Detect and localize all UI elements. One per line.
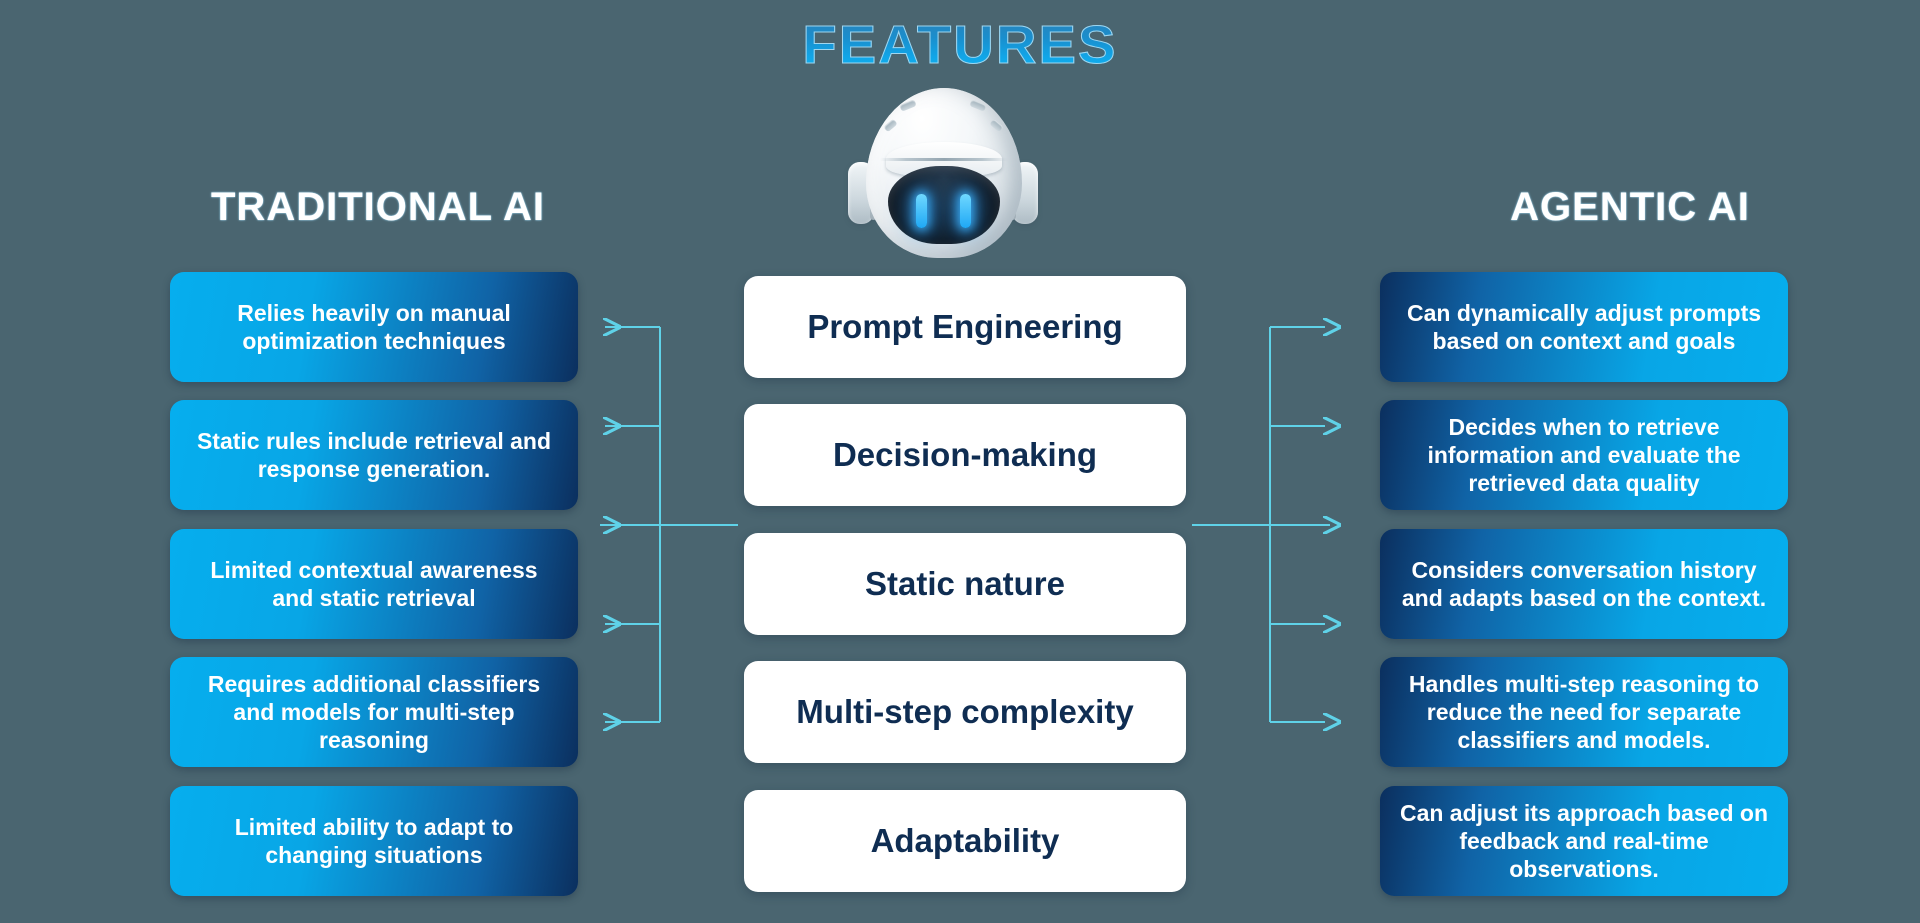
agentic-item[interactable]: Decides when to retrieve information and… bbox=[1380, 400, 1788, 510]
robot-vent-icon bbox=[899, 99, 916, 111]
feature-item[interactable]: Adaptability bbox=[744, 790, 1186, 892]
agentic-item[interactable]: Can dynamically adjust prompts based on … bbox=[1380, 272, 1788, 382]
robot-vent-icon bbox=[969, 99, 986, 111]
page-title: FEATURES bbox=[0, 14, 1920, 76]
robot-eye-right-icon bbox=[960, 194, 971, 228]
robot-head-icon bbox=[818, 88, 1068, 270]
traditional-item[interactable]: Limited ability to adapt to changing sit… bbox=[170, 786, 578, 896]
agentic-item[interactable]: Handles multi-step reasoning to reduce t… bbox=[1380, 657, 1788, 767]
agentic-item[interactable]: Considers conversation history and adapt… bbox=[1380, 529, 1788, 639]
robot-vent-icon bbox=[883, 119, 897, 133]
traditional-ai-heading: TRADITIONAL AI bbox=[178, 185, 578, 230]
feature-item[interactable]: Multi-step complexity bbox=[744, 661, 1186, 763]
robot-helmet bbox=[866, 88, 1022, 258]
feature-item[interactable]: Static nature bbox=[744, 533, 1186, 635]
traditional-item[interactable]: Relies heavily on manual optimization te… bbox=[170, 272, 578, 382]
feature-item[interactable]: Prompt Engineering bbox=[744, 276, 1186, 378]
infographic-canvas: FEATURES TRADITIONAL AI AGENTIC AI bbox=[0, 0, 1920, 923]
robot-visor bbox=[888, 166, 1000, 244]
robot-vent-icon bbox=[989, 119, 1003, 133]
robot-eye-left-icon bbox=[916, 194, 927, 228]
traditional-item[interactable]: Static rules include retrieval and respo… bbox=[170, 400, 578, 510]
traditional-item[interactable]: Limited contextual awareness and static … bbox=[170, 529, 578, 639]
agentic-item[interactable]: Can adjust its approach based on feedbac… bbox=[1380, 786, 1788, 896]
robot-seam-line bbox=[880, 158, 1008, 161]
agentic-ai-heading: AGENTIC AI bbox=[1430, 185, 1830, 230]
traditional-item[interactable]: Requires additional classifiers and mode… bbox=[170, 657, 578, 767]
feature-item[interactable]: Decision-making bbox=[744, 404, 1186, 506]
